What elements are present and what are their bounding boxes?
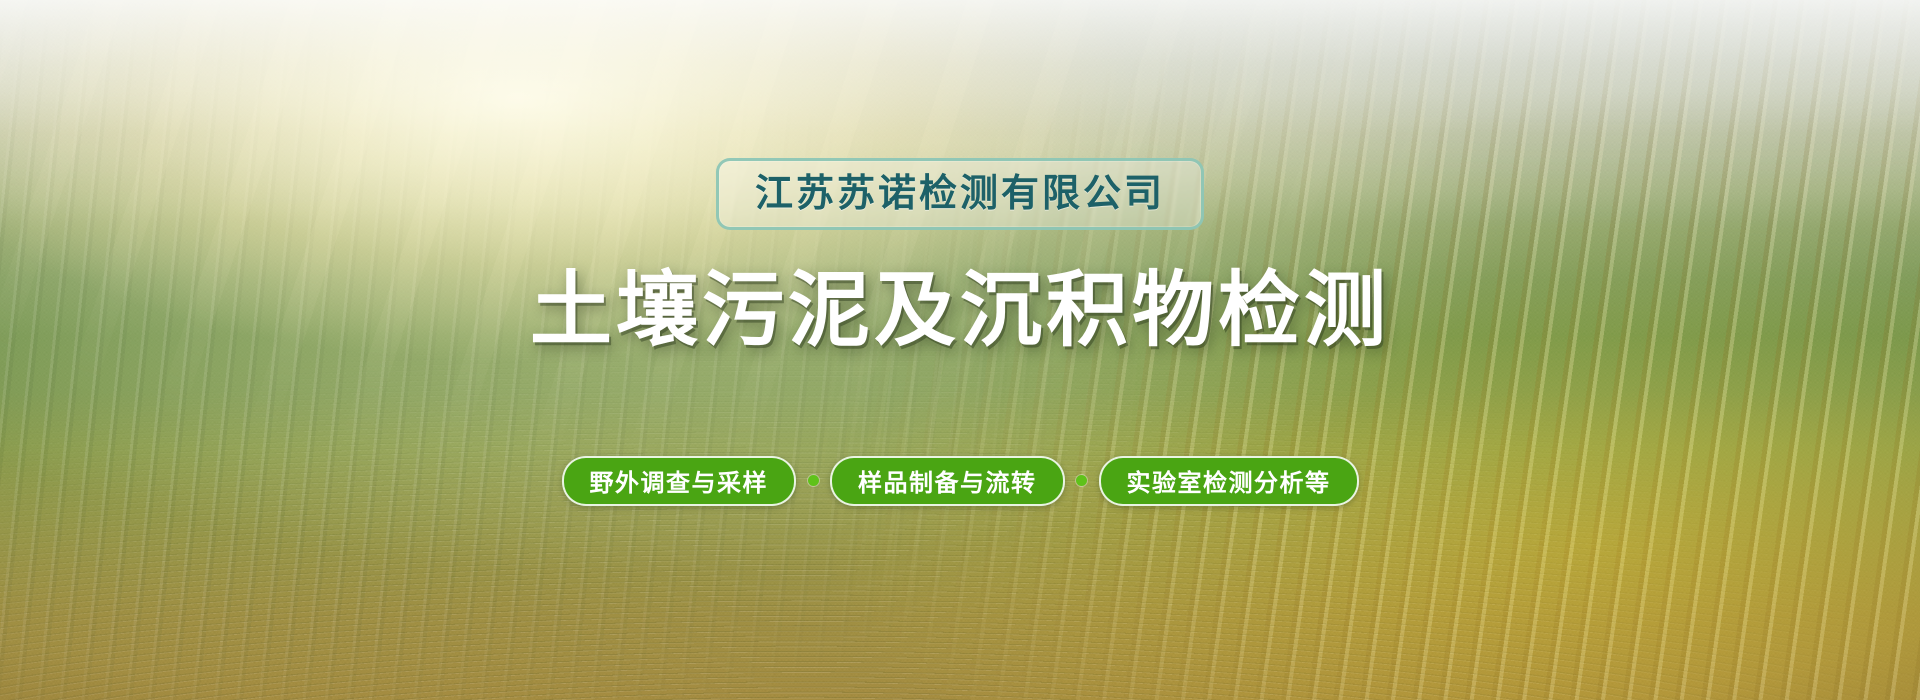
service-badge-lab-analysis[interactable]: 实验室检测分析等: [1099, 456, 1359, 506]
service-badge-field-survey[interactable]: 野外调查与采样: [562, 456, 797, 506]
company-name-box: 江苏苏诺检测有限公司: [716, 158, 1204, 230]
page-title: 土壤污泥及沉积物检测: [530, 268, 1390, 355]
service-badge-row: 野外调查与采样 样品制备与流转 实验室检测分析等: [562, 456, 1359, 506]
banner-content: 江苏苏诺检测有限公司 土壤污泥及沉积物检测 野外调查与采样 样品制备与流转 实验…: [0, 0, 1920, 700]
company-name-text: 江苏苏诺检测有限公司: [755, 175, 1165, 213]
hero-banner: 江苏苏诺检测有限公司 土壤污泥及沉积物检测 野外调查与采样 样品制备与流转 实验…: [0, 0, 1920, 700]
badge-separator-dot-1: [796, 475, 830, 486]
service-badge-sample-prep[interactable]: 样品制备与流转: [830, 456, 1065, 506]
badge-separator-dot-2: [1065, 475, 1099, 486]
